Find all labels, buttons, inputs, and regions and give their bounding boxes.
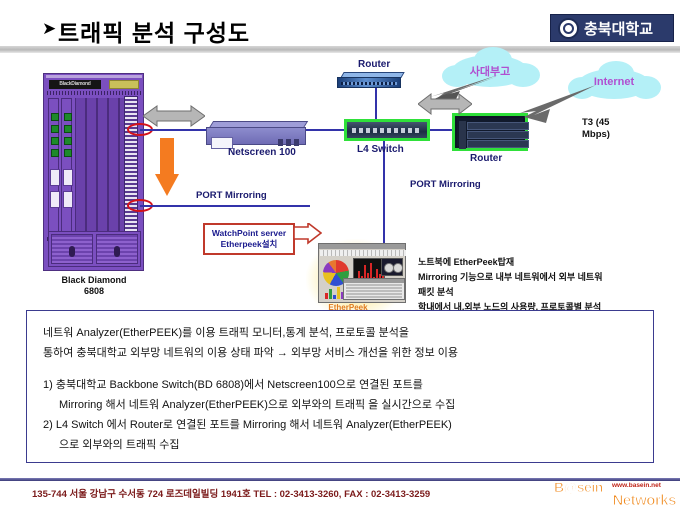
summary-para1-line1: 네트워 Analyzer(EtherPEEK)를 이용 트래픽 모니터,통계 분… bbox=[43, 323, 637, 343]
netscreen-port bbox=[278, 139, 283, 146]
l4-port bbox=[387, 128, 391, 133]
watchpoint-server-callout: WatchPoint server Etherpeek설치 bbox=[203, 223, 295, 255]
table-row bbox=[346, 296, 402, 298]
watchpoint-line2: Etherpeek설치 bbox=[221, 239, 278, 250]
netscreen-port bbox=[286, 139, 291, 146]
t3-label-line2: Mbps) bbox=[582, 129, 642, 141]
page-title: 트래픽 분석 구성도 bbox=[58, 14, 250, 48]
line-card bbox=[61, 98, 72, 234]
l4-port bbox=[359, 128, 363, 133]
bidirectional-arrow-l4-router bbox=[418, 93, 472, 115]
etherpeek-gauges bbox=[381, 258, 403, 276]
l4-switch-body bbox=[347, 122, 427, 138]
status-led-icon bbox=[64, 125, 72, 133]
etherpeek-application-window bbox=[318, 243, 406, 303]
summary-item1-line1: 1) 충북대학교 Backbone Switch(BD 6808)에서 Nets… bbox=[43, 375, 637, 395]
port-mirroring-label-left: PORT Mirroring bbox=[196, 190, 267, 201]
l4-port bbox=[366, 128, 370, 133]
table-row bbox=[346, 293, 402, 295]
status-led-icon bbox=[51, 113, 59, 121]
right-router-device bbox=[452, 113, 528, 151]
etherpeek-annotation-block: 노트북에 EtherPeek탑재 Mirroring 기능으로 내부 네트워에서… bbox=[418, 255, 680, 315]
link-bd-to-watchpoint bbox=[140, 205, 310, 207]
cloud-label: Internet bbox=[578, 76, 650, 88]
right-router-body bbox=[457, 118, 523, 146]
etherpeek-statistics-table bbox=[343, 278, 405, 300]
line-card bbox=[48, 98, 59, 234]
power-supply-unit bbox=[96, 234, 138, 264]
l4-switch-device bbox=[344, 119, 430, 141]
l4-port bbox=[415, 128, 419, 133]
netscreen-label: Netscreen 100 bbox=[228, 147, 296, 158]
empty-slot bbox=[97, 98, 108, 234]
basein-networks-logo: B@sein www.basein.net Networks bbox=[554, 479, 676, 509]
blank-panel bbox=[63, 169, 73, 186]
cloud-label: 사대부고 bbox=[452, 63, 528, 79]
right-router-card bbox=[467, 140, 529, 148]
basein-logo-line1: B@sein bbox=[554, 479, 603, 495]
black-diamond-label-line1: Black Diamond bbox=[38, 275, 150, 286]
table-header bbox=[344, 279, 404, 283]
summary-item1-line2: Mirroring 해서 네트워 Analyzer(EtherPEEK)으로 외… bbox=[43, 395, 637, 415]
port-mirroring-arrow-icon bbox=[155, 138, 179, 196]
l4-port bbox=[401, 128, 405, 133]
top-router-front-face bbox=[337, 77, 401, 88]
t3-label-line1: T3 (45 bbox=[582, 117, 642, 129]
blank-panel bbox=[50, 169, 60, 186]
black-diamond-brand-text: BlackDiamond bbox=[49, 80, 101, 89]
l4-port bbox=[394, 128, 398, 133]
link-bd-to-netscreen bbox=[140, 129, 208, 131]
table-row bbox=[346, 290, 402, 292]
slide-header: ➤ 트래픽 분석 구성도 충북대학교 bbox=[0, 6, 680, 42]
black-diamond-switch: BlackDiamond bbox=[43, 73, 144, 271]
black-diamond-label: Black Diamond 6808 bbox=[38, 275, 150, 297]
university-seal-icon bbox=[558, 18, 579, 39]
watchpoint-line1: WatchPoint server bbox=[212, 228, 286, 239]
port-mirroring-label-right: PORT Mirroring bbox=[410, 179, 481, 190]
top-router-device bbox=[337, 72, 403, 89]
summary-item2-line2: 으로 외부와의 트래픽 수집 bbox=[43, 435, 637, 455]
header-divider bbox=[0, 46, 680, 53]
status-led-icon bbox=[51, 149, 59, 157]
summary-item2-line1: 2) L4 Switch 에서 Router로 연결된 포트를 Mirrorin… bbox=[43, 415, 637, 435]
blank-panel bbox=[63, 191, 73, 208]
slide-root: ➤ 트래픽 분석 구성도 충북대학교 BlackDiamond bbox=[0, 0, 680, 510]
annotation-line-1: 노트북에 EtherPeek탑재 bbox=[418, 255, 680, 270]
chassis-yellow-badge bbox=[109, 80, 139, 89]
l4-switch-label: L4 Switch bbox=[357, 144, 404, 155]
port-module-column bbox=[124, 96, 138, 238]
top-router-label: Router bbox=[358, 59, 390, 70]
annotation-line-3: 패킷 분석 bbox=[418, 285, 680, 300]
netscreen-port-group bbox=[278, 139, 299, 146]
status-led-icon bbox=[64, 113, 72, 121]
l4-switch-port-group bbox=[352, 128, 419, 133]
power-supply-bay bbox=[48, 231, 141, 267]
netscreen-device bbox=[206, 121, 306, 145]
right-router-card bbox=[467, 131, 529, 139]
summary-spacer bbox=[43, 363, 637, 375]
l4-port bbox=[380, 128, 384, 133]
table-row bbox=[346, 287, 402, 289]
chassis-vent-row-top bbox=[47, 91, 141, 95]
university-logo-label: 충북대학교 bbox=[584, 18, 653, 39]
right-router-label: Router bbox=[470, 153, 502, 164]
link-netscreen-to-l4 bbox=[304, 129, 346, 131]
etherpeek-bar-chart bbox=[325, 285, 344, 299]
l4-port bbox=[408, 128, 412, 133]
summary-para1-line2: 통하여 충북대학교 외부망 네트워의 이용 상태 파악 → 외부망 서비스 개선… bbox=[43, 343, 637, 363]
university-logo: 충북대학교 bbox=[550, 14, 674, 42]
status-led-icon bbox=[51, 137, 59, 145]
power-supply-unit bbox=[51, 234, 93, 264]
status-led-icon bbox=[64, 149, 72, 157]
annotation-line-2: Mirroring 기능으로 내부 네트워에서 외부 네트워 bbox=[418, 270, 680, 285]
netscreen-port bbox=[294, 139, 299, 146]
etherpeek-titlebar bbox=[319, 244, 405, 249]
summary-textbox: 네트워 Analyzer(EtherPEEK)를 이용 트래픽 모니터,통계 분… bbox=[26, 310, 654, 463]
table-row bbox=[346, 284, 402, 286]
bullet-arrow-icon: ➤ bbox=[42, 20, 56, 37]
status-led-icon bbox=[51, 125, 59, 133]
link-l4-to-top-router bbox=[375, 88, 377, 119]
black-diamond-label-line2: 6808 bbox=[38, 286, 150, 297]
footer-address: 135-744 서울 강남구 수서동 724 로즈데일빌딩 1941호 TEL … bbox=[32, 486, 430, 500]
etherpeek-toolbar bbox=[320, 250, 406, 256]
arrow-head bbox=[155, 174, 179, 196]
l4-port bbox=[373, 128, 377, 133]
bidirectional-arrow-bd-netscreen bbox=[143, 105, 205, 127]
network-diagram: BlackDiamond bbox=[0, 53, 680, 303]
empty-slot bbox=[75, 98, 86, 234]
right-router-side-panel bbox=[459, 121, 466, 149]
l4-port bbox=[352, 128, 356, 133]
status-led-icon bbox=[64, 137, 72, 145]
arrow-stem bbox=[160, 138, 174, 176]
basein-logo-line2: Networks bbox=[612, 492, 676, 509]
netscreen-front-face bbox=[206, 127, 306, 145]
basein-logo-url: www.basein.net bbox=[612, 482, 661, 489]
link-l4-to-etherpeek bbox=[383, 141, 385, 246]
t3-link-label: T3 (45 Mbps) bbox=[582, 117, 642, 141]
chassis-top-strip bbox=[46, 75, 142, 78]
black-diamond-brand-badge: BlackDiamond bbox=[49, 80, 101, 89]
empty-slot bbox=[86, 98, 97, 234]
blank-panel bbox=[50, 191, 60, 208]
empty-slot bbox=[108, 98, 119, 234]
